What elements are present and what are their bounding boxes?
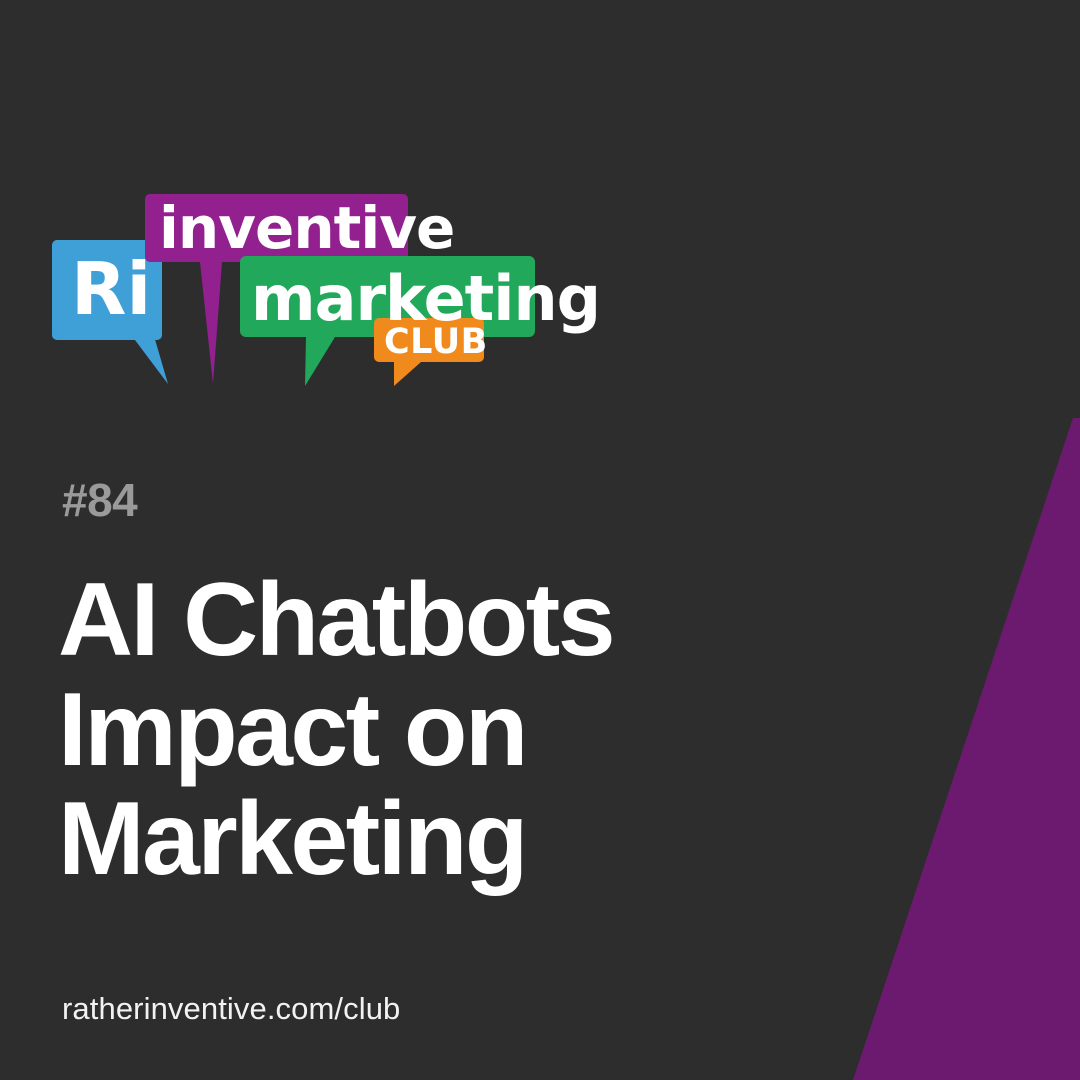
episode-card: Ri inventive marketing CLUB #84 AI Chatb…: [0, 0, 1080, 1080]
page-title: AI Chatbots Impact on Marketing: [58, 566, 758, 895]
site-url[interactable]: ratherinventive.com/club: [62, 993, 400, 1024]
logo-word-club: CLUB: [384, 322, 488, 362]
logo-word-inventive: inventive: [159, 194, 454, 262]
purple-diagonal-wedge: [0, 0, 1080, 1080]
logo-word-ri: Ri: [71, 247, 151, 331]
brand-logo[interactable]: Ri inventive marketing CLUB: [50, 186, 550, 396]
episode-number: #84: [62, 477, 137, 523]
